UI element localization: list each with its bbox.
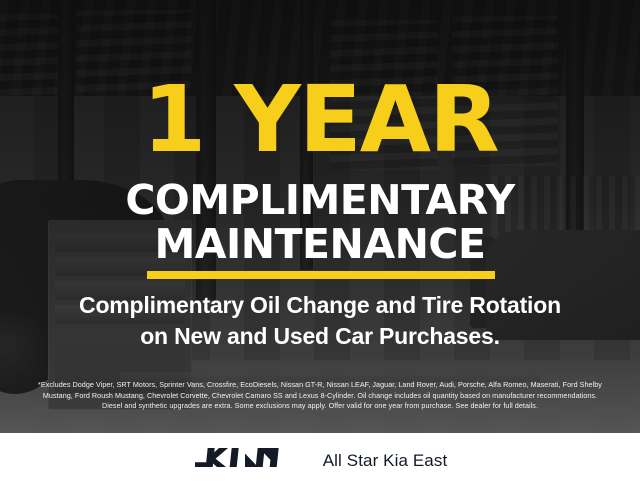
disclaimer-fine-print: *Excludes Dodge Viper, SRT Motors, Sprin… bbox=[14, 380, 626, 412]
headline-subtitle: COMPLIMENTARY MAINTENANCE bbox=[0, 178, 640, 266]
promo-banner: 1 YEAR COMPLIMENTARY MAINTENANCE Complim… bbox=[0, 0, 640, 488]
headline-line-maintenance: MAINTENANCE bbox=[0, 222, 640, 266]
disclaimer-line-1: *Excludes Dodge Viper, SRT Motors, Sprin… bbox=[14, 380, 626, 391]
banner-footer: All Star Kia East bbox=[0, 433, 640, 488]
disclaimer-line-3: Diesel and synthetic upgrades are extra.… bbox=[14, 401, 626, 412]
offer-line-1: Complimentary Oil Change and Tire Rotati… bbox=[20, 290, 620, 321]
yellow-divider-bar bbox=[147, 271, 495, 279]
offer-description: Complimentary Oil Change and Tire Rotati… bbox=[20, 290, 620, 352]
offer-line-2: on New and Used Car Purchases. bbox=[20, 321, 620, 352]
kia-logo-icon bbox=[193, 445, 297, 476]
disclaimer-line-2: Mustang, Ford Roush Mustang, Chevrolet C… bbox=[14, 391, 626, 402]
headline-line-complimentary: COMPLIMENTARY bbox=[0, 178, 640, 222]
headline-year: 1 YEAR bbox=[0, 74, 640, 166]
banner-content: 1 YEAR COMPLIMENTARY MAINTENANCE Complim… bbox=[0, 0, 640, 433]
dealer-name: All Star Kia East bbox=[323, 451, 448, 471]
